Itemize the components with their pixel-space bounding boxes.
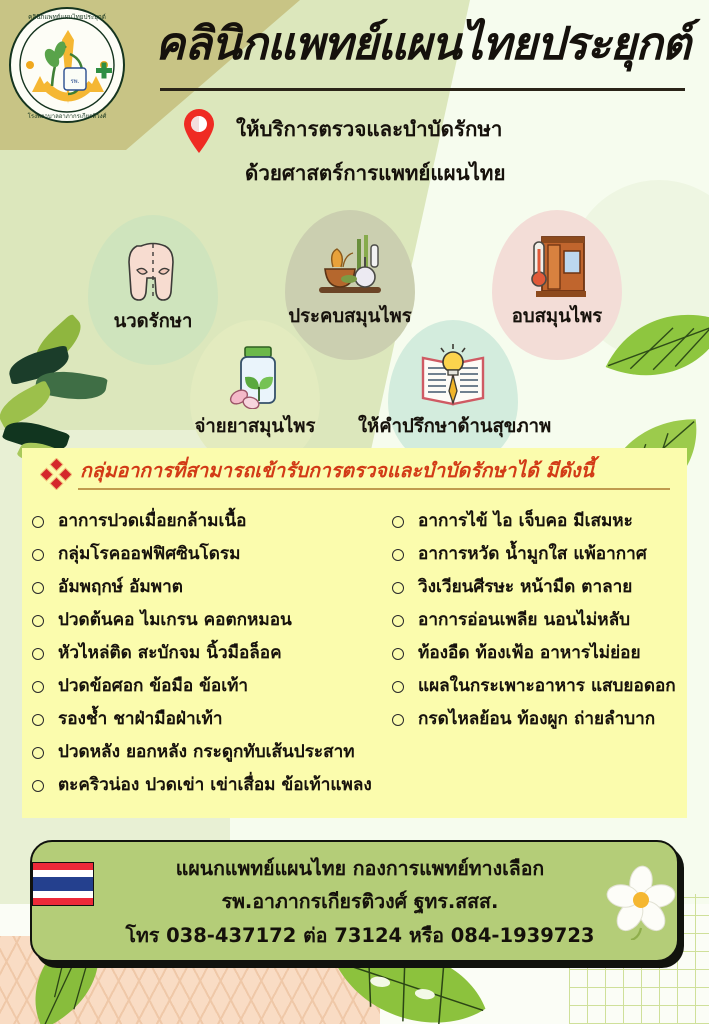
bullet-icon [32, 648, 44, 660]
symptom-list-item: ปวดข้อศอก ข้อมือ ข้อเท้า [22, 673, 382, 706]
page-title: คลินิกแพทย์แผนไทยประยุกต์ [150, 18, 695, 70]
bullet-icon [392, 714, 404, 726]
symptom-list-item: วิงเวียนศีรษะ หน้ามืด ตาลาย [382, 574, 687, 607]
footer-line-1: แผนกแพทย์แผนไทย กองการแพทย์ทางเลือก [100, 853, 620, 884]
symptom-text: กรดไหลย้อน ท้องผูก ถ่ายลำบาก [418, 706, 655, 732]
symptoms-left-column: อาการปวดเมื่อยกล้ามเนื้อ กลุ่มโรคออฟฟิศซ… [22, 508, 382, 805]
symptom-text: วิงเวียนศีรษะ หน้ามืด ตาลาย [418, 574, 632, 600]
hospital-seal-logo: รพ. คลินิกแพทย์แผนไทยประยุกต์ โรงพยาบาลอ… [8, 6, 126, 124]
subtitle-line-1: ให้บริการตรวจและบำบัดรักษา [236, 113, 502, 146]
bullet-icon [392, 681, 404, 693]
bullet-icon [32, 549, 44, 561]
symptom-text: อัมพฤกษ์ อัมพาต [58, 574, 183, 600]
bullet-icon [32, 681, 44, 693]
frangipani-flower-icon [601, 860, 681, 940]
herbal-sauna-icon [492, 230, 622, 302]
symptom-list-item: อาการปวดเมื่อยกล้ามเนื้อ [22, 508, 382, 541]
symptom-text: ปวดหลัง ยอกหลัง กระดูกทับเส้นประสาท [58, 739, 355, 765]
symptom-text: อาการอ่อนเพลีย นอนไม่หลับ [418, 607, 630, 633]
bullet-icon [32, 714, 44, 726]
symptom-list-item: ปวดหลัง ยอกหลัง กระดูกทับเส้นประสาท [22, 739, 382, 772]
symptom-list-item: กรดไหลย้อน ท้องผูก ถ่ายลำบาก [382, 706, 687, 739]
symptom-text: ปวดต้นคอ ไมเกรน คอตกหมอน [58, 607, 292, 633]
red-diamond-ornament-icon [40, 458, 72, 490]
symptom-text: หัวไหล่ติด สะบักจม นิ้วมือล็อค [58, 640, 282, 666]
herbal-compress-icon [285, 230, 415, 302]
symptoms-section-rule [78, 488, 670, 490]
footer-line-3: โทร 038-437172 ต่อ 73124 หรือ 084-193972… [100, 920, 620, 951]
symptom-list-item: กลุ่มโรคออฟฟิศซินโดรม [22, 541, 382, 574]
svg-text:รพ.: รพ. [70, 78, 79, 85]
herbal-medicine-icon [190, 340, 320, 412]
subtitle-line-2: ด้วยศาสตร์การแพทย์แผนไทย [245, 157, 505, 190]
symptom-text: ปวดข้อศอก ข้อมือ ข้อเท้า [58, 673, 248, 699]
bullet-icon [392, 648, 404, 660]
symptom-list-item: แผลในกระเพาะอาหาร แสบยอดอก [382, 673, 687, 706]
bullet-icon [32, 516, 44, 528]
symptom-list-item: อาการอ่อนเพลีย นอนไม่หลับ [382, 607, 687, 640]
poster-root: รพ. คลินิกแพทย์แผนไทยประยุกต์ โรงพยาบาลอ… [0, 0, 709, 1024]
bullet-icon [32, 747, 44, 759]
bullet-icon [392, 615, 404, 627]
footer-line-2: รพ.อาภากรเกียรติวงศ์ ฐทร.สสส. [100, 886, 620, 917]
symptoms-columns: อาการปวดเมื่อยกล้ามเนื้อ กลุ่มโรคออฟฟิศซ… [22, 508, 687, 818]
symptom-list-item: อัมพฤกษ์ อัมพาต [22, 574, 382, 607]
service-label: ให้คำปรึกษาด้านสุขภาพ [358, 412, 548, 441]
symptom-text: กลุ่มโรคออฟฟิศซินโดรม [58, 541, 241, 567]
symptom-list-item: ตะคริวน่อง ปวดเข่า เข่าเสื่อม ข้อเท้าแพล… [22, 772, 382, 805]
service-label: จ่ายยาสมุนไพร [160, 412, 350, 441]
symptoms-right-column: อาการไข้ ไอ เจ็บคอ มีเสมหะ อาการหวัด น้ำ… [382, 508, 687, 739]
bullet-icon [32, 582, 44, 594]
title-underline [160, 88, 685, 91]
symptom-text: อาการหวัด น้ำมูกใส แพ้อากาศ [418, 541, 647, 567]
symptom-text: ท้องอืด ท้องเฟ้อ อาหารไม่ย่อย [418, 640, 641, 666]
symptom-text: รองช้ำ ชาฝ่ามือฝ่าเท้า [58, 706, 223, 732]
symptom-list-item: อาการไข้ ไอ เจ็บคอ มีเสมหะ [382, 508, 687, 541]
symptom-list-item: ท้องอืด ท้องเฟ้อ อาหารไม่ย่อย [382, 640, 687, 673]
symptom-text: ตะคริวน่อง ปวดเข่า เข่าเสื่อม ข้อเท้าแพล… [58, 772, 372, 798]
symptom-text: แผลในกระเพาะอาหาร แสบยอดอก [418, 673, 676, 699]
svg-text:โรงพยาบาลอาภากรเกียรติวงศ์: โรงพยาบาลอาภากรเกียรติวงศ์ [28, 112, 107, 120]
bullet-icon [392, 516, 404, 528]
back-massage-icon [88, 235, 218, 307]
bullet-icon [392, 549, 404, 561]
symptom-list-item: รองช้ำ ชาฝ่ามือฝ่าเท้า [22, 706, 382, 739]
thai-flag-icon [32, 862, 94, 906]
symptom-list-item: อาการหวัด น้ำมูกใส แพ้อากาศ [382, 541, 687, 574]
location-pin-icon [182, 108, 216, 154]
symptoms-section-title: กลุ่มอาการที่สามารถเข้ารับการตรวจและบำบั… [80, 455, 680, 486]
svg-text:คลินิกแพทย์แผนไทยประยุกต์: คลินิกแพทย์แผนไทยประยุกต์ [28, 13, 106, 21]
health-advice-icon [388, 340, 518, 412]
bullet-icon [32, 780, 44, 792]
bullet-icon [392, 582, 404, 594]
symptom-text: อาการไข้ ไอ เจ็บคอ มีเสมหะ [418, 508, 633, 534]
bullet-icon [32, 615, 44, 627]
symptom-text: อาการปวดเมื่อยกล้ามเนื้อ [58, 508, 246, 534]
symptom-list-item: หัวไหล่ติด สะบักจม นิ้วมือล็อค [22, 640, 382, 673]
symptom-list-item: ปวดต้นคอ ไมเกรน คอตกหมอน [22, 607, 382, 640]
